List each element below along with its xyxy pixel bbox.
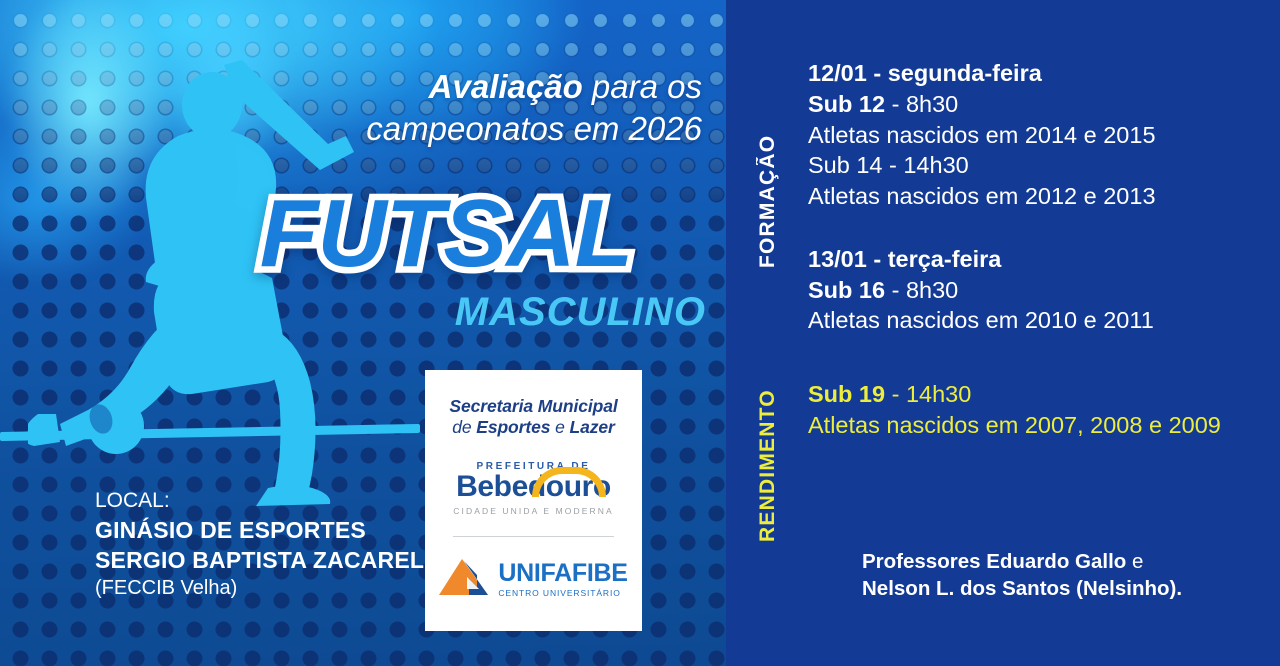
teachers-credit: Professores Eduardo Gallo e Nelson L. do… xyxy=(862,548,1182,603)
unifafibe-name: UNIFAFIBE xyxy=(498,559,627,587)
page-title: FUTSAL xyxy=(260,186,633,282)
venue-note: (FECCIB Velha) xyxy=(95,575,445,601)
schedule-list: 12/01 - segunda-feira Sub 12 - 8h30 Atle… xyxy=(808,0,1278,441)
schedule-date: 12/01 - segunda-feira xyxy=(808,58,1278,89)
category-label-formacao: FORMAÇÃO xyxy=(756,108,780,268)
poster-left-panel: Avaliação para os campeonatos em 2026 FU… xyxy=(0,0,726,666)
card-divider xyxy=(453,536,614,537)
poster-right-panel: FORMAÇÃO RENDIMENTO 12/01 - segunda-feir… xyxy=(726,0,1280,666)
title-lockup: FUTSAL MASCULINO xyxy=(186,186,706,282)
unifafibe-triangle-icon xyxy=(439,557,491,602)
unifafibe-subtitle: CENTRO UNIVERSITÁRIO xyxy=(498,588,627,598)
venue-name-line1: GINÁSIO DE ESPORTES xyxy=(95,515,445,545)
schedule-rendimento: Sub 19 - 14h30 Atletas nascidos em 2007,… xyxy=(808,336,1278,441)
secretaria-lazer: Lazer xyxy=(570,417,615,437)
bebedouro-slogan: CIDADE UNIDA E MODERNA xyxy=(439,506,628,516)
secretaria-title: Secretaria Municipal de Esportes e Lazer xyxy=(439,396,628,439)
schedule-date: 13/01 - terça-feira xyxy=(808,244,1278,275)
venue-label: LOCAL: xyxy=(95,487,445,515)
schedule-row: Sub 12 - 8h30 xyxy=(808,89,1278,120)
sponsor-logo-card: Secretaria Municipal de Esportes e Lazer… xyxy=(425,370,642,631)
teachers-line1: Professores Eduardo Gallo xyxy=(862,550,1126,573)
schedule-row: Atletas nascidos em 2014 e 2015 xyxy=(808,120,1278,151)
schedule-row: Sub 19 - 14h30 xyxy=(808,379,1278,410)
headline-rest: para os xyxy=(583,68,702,105)
category-label-rendimento: RENDIMENTO xyxy=(756,372,780,542)
schedule-row: Sub 14 - 14h30 xyxy=(808,150,1278,181)
futsal-evaluation-poster: Avaliação para os campeonatos em 2026 FU… xyxy=(0,0,1280,666)
secretaria-de: de xyxy=(452,417,476,437)
schedule-row: Sub 16 - 8h30 xyxy=(808,275,1278,306)
schedule-day-2: 13/01 - terça-feira Sub 16 - 8h30 Atleta… xyxy=(808,212,1278,336)
venue-block: LOCAL: GINÁSIO DE ESPORTES SERGIO BAPTIS… xyxy=(95,487,445,602)
schedule-row: Atletas nascidos em 2012 e 2013 xyxy=(808,181,1278,212)
futsal-ball-icon xyxy=(88,398,144,454)
secretaria-esportes: Esportes xyxy=(476,417,550,437)
teachers-line2: Nelson L. dos Santos (Nelsinho). xyxy=(862,575,1182,602)
secretaria-line1: Secretaria Municipal xyxy=(439,396,628,417)
schedule-row: Atletas nascidos em 2010 e 2011 xyxy=(808,305,1278,336)
secretaria-e: e xyxy=(550,417,569,437)
unifafibe-logo: UNIFAFIBE CENTRO UNIVERSITÁRIO xyxy=(439,557,628,602)
page-subtitle: MASCULINO xyxy=(455,290,706,335)
headline-line2: campeonatos em 2026 xyxy=(330,108,702,150)
headline-emphasis: Avaliação xyxy=(429,68,583,105)
headline: Avaliação para os campeonatos em 2026 xyxy=(330,66,702,150)
schedule-day-1: 12/01 - segunda-feira Sub 12 - 8h30 Atle… xyxy=(808,0,1278,212)
schedule-row: Atletas nascidos em 2007, 2008 e 2009 xyxy=(808,410,1278,441)
teachers-line1-conj: e xyxy=(1126,550,1143,573)
venue-name-line2: SERGIO BAPTISTA ZACARELLI xyxy=(95,545,445,575)
bebedouro-logo: PREFEITURA DE Bebedouro CIDADE UNIDA E M… xyxy=(439,461,628,516)
